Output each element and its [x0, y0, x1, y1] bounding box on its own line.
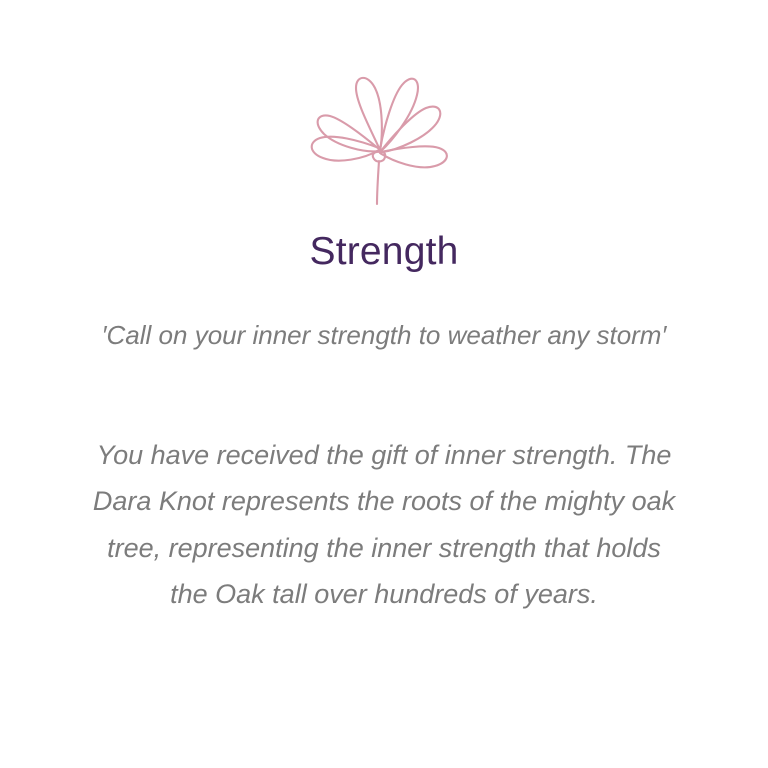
body-line: Dara Knot represents the roots of the mi… — [19, 478, 749, 524]
body-line: tree, representing the inner strength th… — [19, 525, 749, 571]
page-title: Strength — [309, 230, 458, 275]
emblem-container — [284, 56, 484, 206]
body-line: the Oak tall over hundreds of years. — [19, 571, 749, 617]
body-description: You have received the gift of inner stre… — [19, 432, 749, 618]
strength-card: Strength ′Call on your inner strength to… — [0, 0, 768, 768]
dara-knot-flower-icon — [284, 56, 484, 206]
body-line: You have received the gift of inner stre… — [19, 432, 749, 478]
quote-text: ′Call on your inner strength to weather … — [84, 317, 684, 354]
